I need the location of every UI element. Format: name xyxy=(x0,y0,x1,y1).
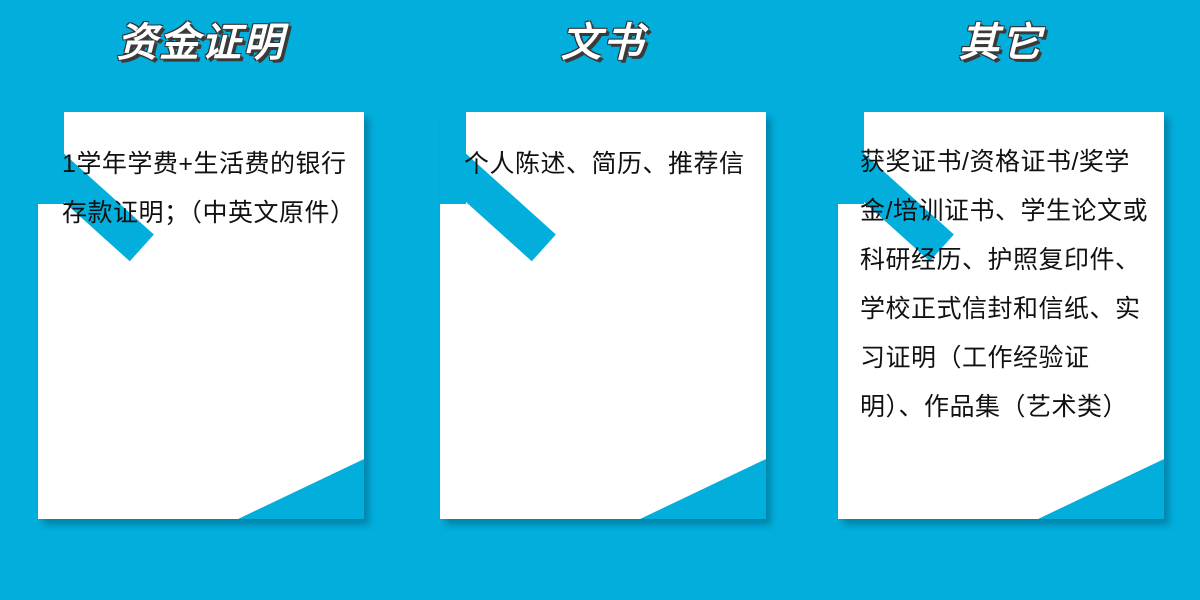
corner-slash-bottom-right-icon xyxy=(238,459,364,519)
card-body-funding: 1学年学费+生活费的银行存款证明；（中英文原件） xyxy=(62,140,350,238)
card-title-others: 其它 xyxy=(838,16,1164,70)
card-column-others: 其它 获奖证书/资格证书/奖学金/培训证书、学生论文或科研经历、护照复印件、学校… xyxy=(838,0,1164,600)
card-body-documents: 个人陈述、简历、推荐信 xyxy=(464,140,752,189)
card-column-funding: 资金证明 1学年学费+生活费的银行存款证明；（中英文原件） xyxy=(38,0,364,600)
corner-slash-top-left-icon xyxy=(38,112,64,204)
card-title-funding: 资金证明 xyxy=(38,16,364,70)
card-others[interactable]: 获奖证书/资格证书/奖学金/培训证书、学生论文或科研经历、护照复印件、学校正式信… xyxy=(838,112,1164,519)
corner-slash-top-left-icon xyxy=(440,112,466,204)
corner-slash-bottom-right-icon xyxy=(1038,459,1164,519)
card-column-documents: 文书 个人陈述、简历、推荐信 xyxy=(440,0,766,600)
corner-slash-bottom-right-icon xyxy=(640,459,766,519)
card-title-documents: 文书 xyxy=(440,16,766,70)
card-documents[interactable]: 个人陈述、简历、推荐信 xyxy=(440,112,766,519)
card-funding[interactable]: 1学年学费+生活费的银行存款证明；（中英文原件） xyxy=(38,112,364,519)
card-body-others: 获奖证书/资格证书/奖学金/培训证书、学生论文或科研经历、护照复印件、学校正式信… xyxy=(860,138,1152,432)
infographic-board: 资金证明 1学年学费+生活费的银行存款证明；（中英文原件） 文书 个人陈述、简历… xyxy=(0,0,1200,600)
